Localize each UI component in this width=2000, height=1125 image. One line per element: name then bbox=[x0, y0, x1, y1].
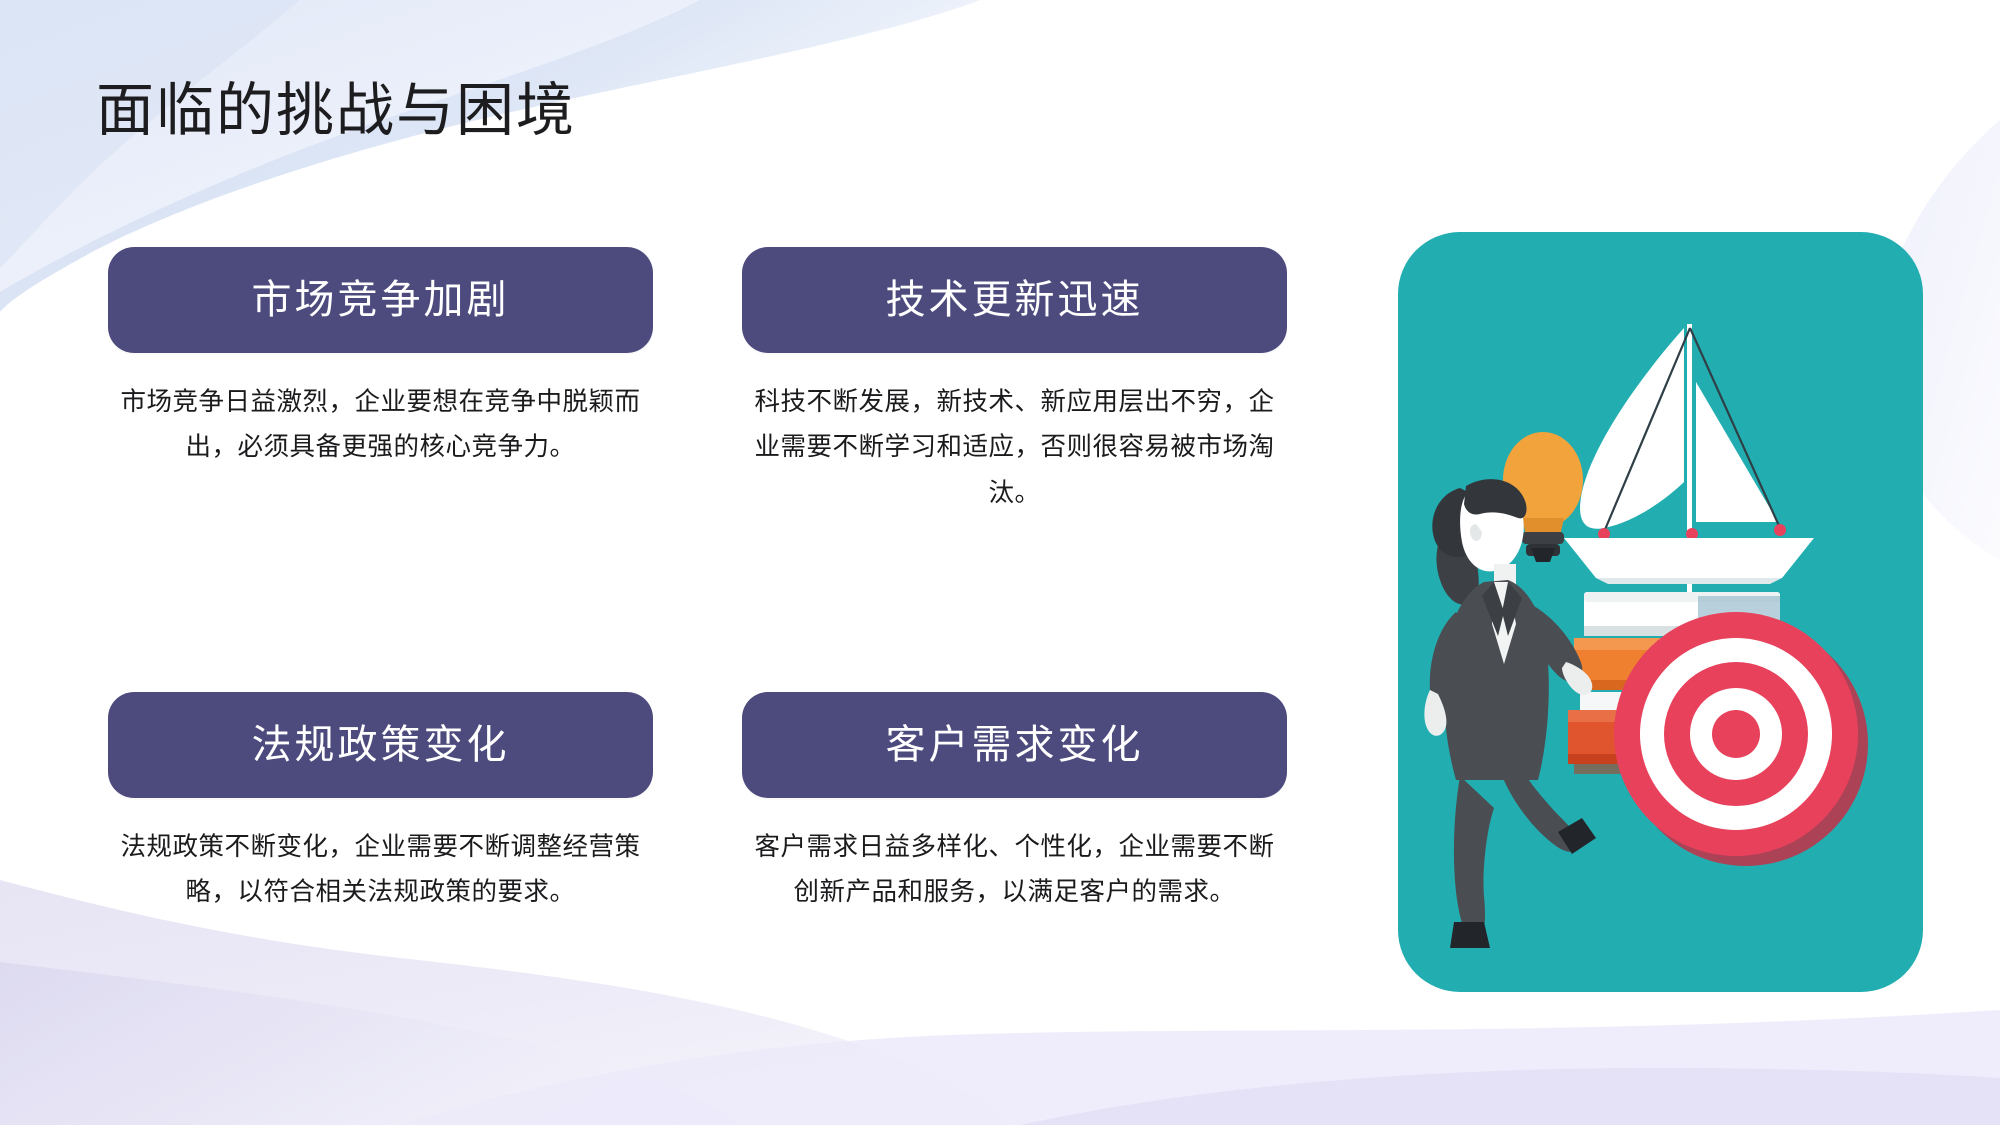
card-title-label-0: 市场竞争加剧 bbox=[252, 280, 510, 320]
challenge-card-1[interactable]: 技术更新迅速 科技不断发展，新技术、新应用层出不穷，企业需要不断学习和适应，否则… bbox=[742, 247, 1287, 515]
challenge-card-0[interactable]: 市场竞争加剧 市场竞争日益激烈，企业要想在竞争中脱颖而出，必须具备更强的核心竞争… bbox=[108, 247, 653, 470]
sailboat-icon bbox=[1564, 324, 1814, 634]
card-title-label-3: 客户需求变化 bbox=[886, 725, 1144, 765]
card-body-text-3: 客户需求日益多样化、个性化，企业需要不断创新产品和服务，以满足客户的需求。 bbox=[742, 824, 1287, 915]
card-body-text-2: 法规政策不断变化，企业需要不断调整经营策略，以符合相关法规政策的要求。 bbox=[108, 824, 653, 915]
target-dartboard-icon bbox=[1614, 612, 1868, 866]
card-title-label-2: 法规政策变化 bbox=[252, 725, 510, 765]
card-title-label-1: 技术更新迅速 bbox=[886, 280, 1144, 320]
card-title-badge-3[interactable]: 客户需求变化 bbox=[742, 692, 1287, 798]
business-challenge-illustration bbox=[1398, 232, 1923, 992]
challenge-card-2[interactable]: 法规政策变化 法规政策不断变化，企业需要不断调整经营策略，以符合相关法规政策的要… bbox=[108, 692, 653, 915]
card-title-badge-2[interactable]: 法规政策变化 bbox=[108, 692, 653, 798]
challenge-card-grid: 市场竞争加剧 市场竞争日益激烈，企业要想在竞争中脱颖而出，必须具备更强的核心竞争… bbox=[0, 0, 1330, 1125]
card-body-text-1: 科技不断发展，新技术、新应用层出不穷，企业需要不断学习和适应，否则很容易被市场淘… bbox=[742, 379, 1287, 515]
card-title-badge-1[interactable]: 技术更新迅速 bbox=[742, 247, 1287, 353]
card-title-badge-0[interactable]: 市场竞争加剧 bbox=[108, 247, 653, 353]
challenge-card-3[interactable]: 客户需求变化 客户需求日益多样化、个性化，企业需要不断创新产品和服务，以满足客户… bbox=[742, 692, 1287, 915]
card-body-text-0: 市场竞争日益激烈，企业要想在竞争中脱颖而出，必须具备更强的核心竞争力。 bbox=[108, 379, 653, 470]
slide-root: 面临的挑战与困境 市场竞争加剧 市场竞争日益激烈，企业要想在竞争中脱颖而出，必须… bbox=[0, 0, 2000, 1125]
